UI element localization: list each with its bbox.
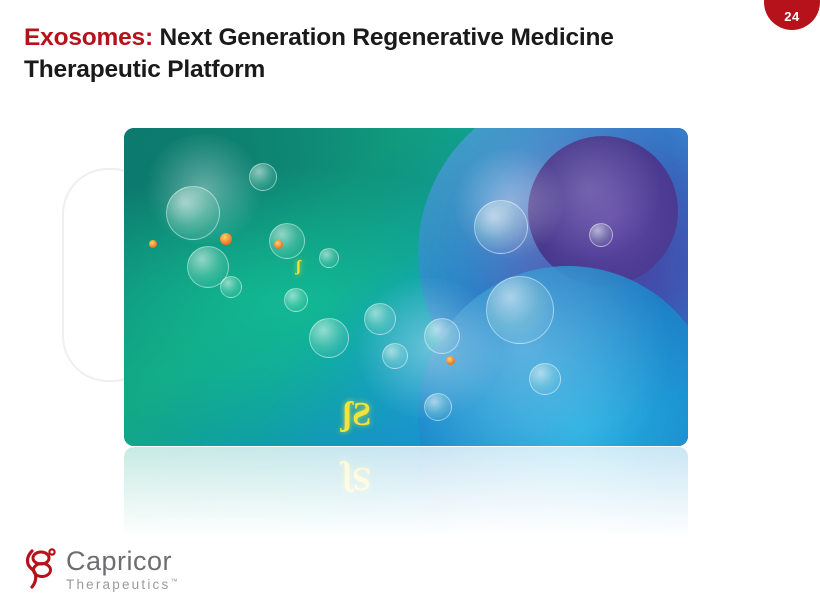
capricor-logo-icon <box>24 547 58 593</box>
orange-particle <box>149 240 157 248</box>
vesicle <box>364 303 396 335</box>
company-logo: Capricor Therapeutics™ <box>24 547 177 593</box>
slide-canvas: 24 Exosomes: Next Generation Regenerativ… <box>0 0 820 615</box>
orange-particle <box>220 233 232 245</box>
page-title: Exosomes: Next Generation Regenerative M… <box>24 22 724 87</box>
vesicle <box>382 343 408 369</box>
vesicle <box>424 393 452 421</box>
logo-subtitle: Therapeutics™ <box>66 578 177 592</box>
yellow-molecule-icon: ʃƧ <box>342 396 371 434</box>
vesicle <box>486 276 554 344</box>
reflection-fade-overlay <box>124 447 688 537</box>
orange-particle <box>446 356 455 365</box>
title-accent-text: Exosomes: <box>24 24 153 51</box>
logo-company-name: Capricor <box>66 548 177 575</box>
illustration-artwork: ʃƧ ʃ <box>124 128 688 446</box>
orange-particle <box>274 240 283 249</box>
page-number-label: 24 <box>784 9 799 24</box>
reflection-molecule-icon: ʃƧ <box>342 459 371 497</box>
vesicle <box>589 223 613 247</box>
yellow-molecule-icon: ʃ <box>296 258 301 276</box>
reflection-shape <box>418 475 688 535</box>
vesicle <box>309 318 349 358</box>
image-reflection: ʃƧ <box>124 447 688 535</box>
vesicle <box>424 318 460 354</box>
logo-wordmark: Capricor Therapeutics™ <box>66 548 177 594</box>
vesicle <box>474 200 528 254</box>
page-number-badge: 24 <box>764 0 820 30</box>
vesicle <box>166 186 220 240</box>
vesicle <box>284 288 308 312</box>
vesicle <box>319 248 339 268</box>
reflection-shape <box>418 447 688 535</box>
vesicle <box>249 163 277 191</box>
exosome-illustration: ʃƧ ʃ <box>124 128 688 446</box>
vesicle <box>220 276 242 298</box>
logo-trademark: ™ <box>170 578 177 585</box>
reflection-artwork: ʃƧ <box>124 447 688 535</box>
vesicle <box>529 363 561 395</box>
